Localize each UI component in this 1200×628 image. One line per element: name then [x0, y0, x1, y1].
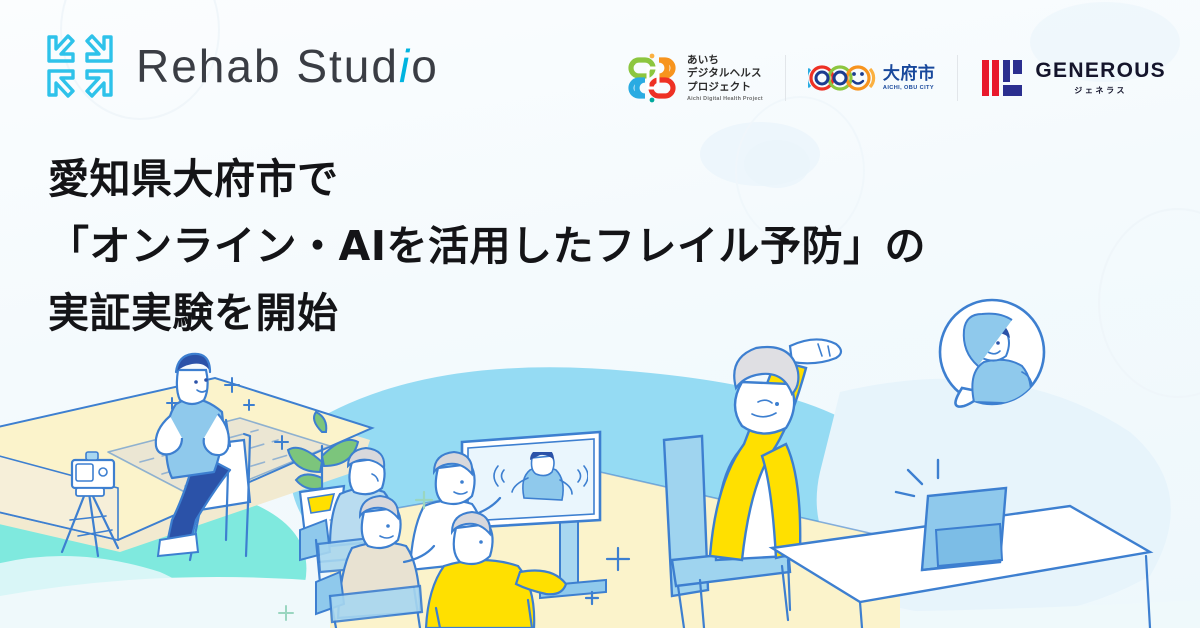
- aichi-line-2: デジタルヘルス: [687, 67, 763, 80]
- headline-line-2: 「オンライン・AIを活用したフレイル予防」の: [48, 213, 926, 280]
- partner-divider: [957, 55, 958, 101]
- obu-en-label: AICHI, OBU CITY: [883, 85, 936, 91]
- partner-logo-obu-city: 大府市 AICHI, OBU CITY: [808, 61, 936, 95]
- aichi-line-1: あいち: [687, 54, 763, 67]
- partner-divider: [785, 55, 786, 101]
- aichi-line-3: プロジェクト: [687, 81, 763, 94]
- aichi-logo-text: あいち デジタルヘルス プロジェクト Aichi Digital Health …: [687, 54, 763, 102]
- brand-wordmark: Rehab Studio: [136, 43, 439, 89]
- headline: 愛知県大府市で 「オンライン・AIを活用したフレイル予防」の 実証実験を開始: [48, 146, 926, 347]
- partner-logos: あいち デジタルヘルス プロジェクト Aichi Digital Health …: [624, 50, 1166, 106]
- header: Rehab Studio: [0, 0, 1200, 132]
- obu-smiley-circles-icon: [808, 61, 876, 95]
- partner-logo-aichi-digital-health-project: あいち デジタルヘルス プロジェクト Aichi Digital Health …: [624, 50, 763, 106]
- four-inward-arrows-icon: [44, 30, 116, 102]
- obu-jp-label: 大府市: [883, 65, 936, 82]
- generous-logo-text: GENEROUS ジェネラス: [1035, 60, 1166, 96]
- generous-kana-label: ジェネラス: [1074, 85, 1127, 96]
- promo-banner: .ln{fill:none;stroke:#3d7fd0;stroke-widt…: [0, 0, 1200, 628]
- headline-line-3: 実証実験を開始: [48, 280, 926, 347]
- brand-name-suffix: o: [411, 40, 439, 92]
- aichi-romaji: Aichi Digital Health Project: [687, 96, 763, 102]
- brand-lockup[interactable]: Rehab Studio: [44, 30, 439, 102]
- headline-line-1: 愛知県大府市で: [48, 146, 926, 213]
- clover-cross-icon: [624, 50, 680, 106]
- brand-name-prefix: Rehab Stud: [136, 40, 399, 92]
- brand-name-accent: i: [399, 40, 411, 92]
- generous-en-label: GENEROUS: [1035, 60, 1166, 81]
- video-bubble: [940, 300, 1044, 407]
- partner-logo-generous: GENEROUS ジェネラス: [980, 58, 1166, 98]
- generous-bars-icon: [980, 58, 1028, 98]
- obu-logo-text: 大府市 AICHI, OBU CITY: [883, 65, 936, 91]
